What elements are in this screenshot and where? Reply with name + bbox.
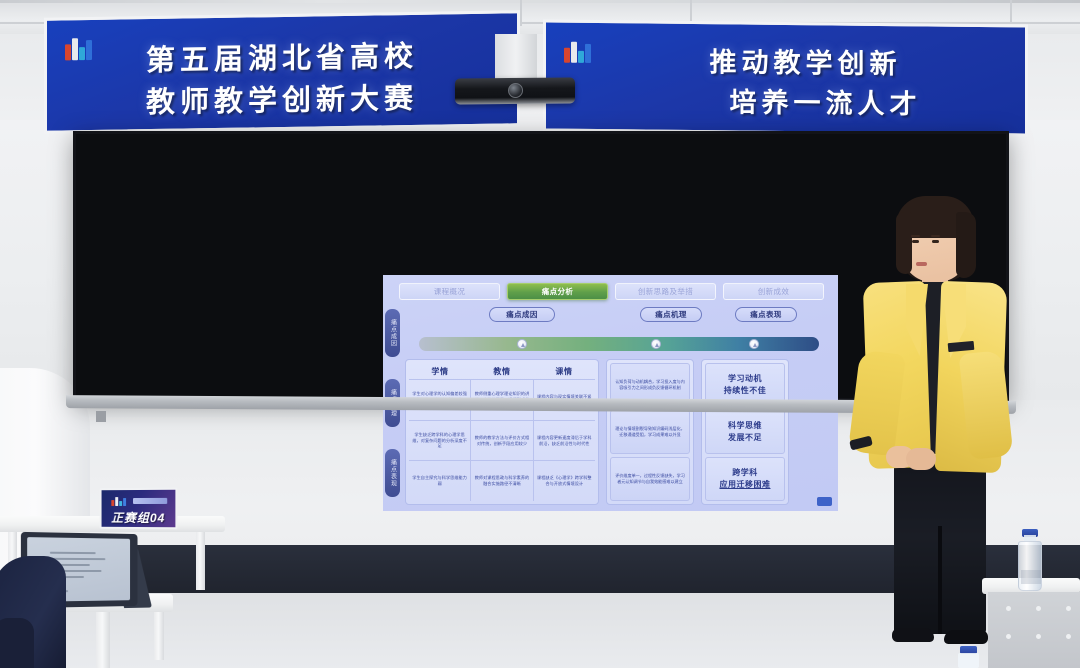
bottle-body: [1018, 541, 1042, 591]
presenter-eye: [912, 240, 919, 243]
pain-cause-table: 学情 教情 课情 学生对心理学的认知偏差较强刻板印象，对本学科学习信心不足 教师…: [405, 359, 599, 505]
ceiling-line: [520, 0, 522, 26]
table-row: 学生缺乏跨学科的心理学思维，对复杂问题的分析深度不足 教师的教学方法与评价方式相…: [409, 420, 595, 461]
water-bottle-secondary: [958, 646, 980, 668]
pill-label: 痛点成因: [506, 309, 538, 320]
pill-label: 痛点表现: [750, 309, 782, 320]
progress-node: [651, 339, 661, 349]
progress-node: [517, 339, 527, 349]
desk-leg: [154, 612, 164, 660]
presenter-eye: [932, 240, 939, 243]
tab-label: 痛点分析: [542, 286, 574, 297]
symptom-line1: 科学思维: [728, 420, 762, 432]
mechanism-box: 评价维度单一，过程性反馈缺失，学习者元认知调节与自我效能感难以建立: [610, 457, 690, 501]
ceiling-line: [1010, 0, 1012, 24]
name-card-subtitle-bar: [133, 498, 167, 504]
banner-right-line1: 推动教学创新: [546, 38, 1025, 82]
tab-label: 创新思路及举措: [638, 286, 693, 297]
symptom-line1: 跨学科: [720, 467, 771, 479]
side-rail-label: 痛点表现: [390, 459, 396, 487]
side-rail-item-symptom[interactable]: 痛点表现: [385, 449, 400, 497]
table-header-row: 学情 教情 课情: [409, 363, 595, 379]
column-header-student: 学情: [409, 363, 471, 379]
water-bottle: [1018, 529, 1042, 591]
side-rail-item-cause[interactable]: 痛点成因: [385, 309, 400, 357]
pill-label: 痛点机理: [655, 309, 687, 320]
column-header-course: 课情: [533, 363, 595, 379]
column-header-teaching: 教情: [471, 363, 533, 379]
table-row: 学生自主探究与科学思维能力弱 教师对课程思政与科学素养的融合实施路径不清晰 课程…: [409, 460, 595, 501]
presenter-hair: [896, 212, 912, 274]
banner-right: 推动教学创新 培养一流人才: [543, 19, 1028, 136]
presenter-hair: [956, 212, 976, 278]
presenter-shoe: [944, 630, 988, 644]
presenter-eyebrow: [911, 235, 920, 237]
name-card-text: 正赛组04: [102, 509, 176, 526]
presenter-mouth: [916, 262, 927, 266]
presenter-hand: [906, 448, 936, 470]
bottle-body: [958, 653, 979, 668]
desk-leg: [96, 612, 110, 668]
mechanism-box: 理论与情境割裂导致知识编码浅层化，迁移通道受阻，学习成果难以外显: [610, 410, 690, 454]
table-cell: 学生自主探究与科学思维能力弱: [409, 461, 471, 501]
ceiling-seam: [0, 0, 1080, 3]
pain-mechanism-column: 认知负荷与动机耦合，学习投入度与内容吸引力之间形成负反馈循环机制 理论与情境割裂…: [606, 359, 694, 505]
slide-section-pills: 痛点成因 痛点机理 痛点表现: [405, 307, 825, 323]
tab-pain-point-analysis[interactable]: 痛点分析: [507, 283, 608, 300]
desk-leg: [196, 532, 205, 590]
symptom-line2: 持续性不佳: [724, 385, 767, 397]
presenter-eyebrow: [931, 235, 940, 237]
tab-label: 课程概况: [434, 286, 466, 297]
pill-pain-cause: 痛点成因: [489, 307, 555, 322]
screen-foot: [96, 411, 106, 422]
name-card: 正赛组04: [100, 488, 178, 530]
tab-innovation-results[interactable]: 创新成效: [723, 283, 824, 300]
tab-course-overview[interactable]: 课程概况: [399, 283, 500, 300]
side-rail-label: 痛点成因: [390, 319, 396, 347]
banner-left-line1: 第五届湖北省高校: [47, 31, 517, 80]
slide-content: 学情 教情 课情 学生对心理学的认知偏差较强刻板印象，对本学科学习信心不足 教师…: [405, 359, 825, 505]
slide-tab-bar: 课程概况 痛点分析 创新思路及举措 创新成效: [399, 283, 824, 300]
presentation-slide: 课程概况 痛点分析 创新思路及举措 创新成效 痛点成因 痛点机理: [383, 275, 838, 511]
equipment-cabinet: [988, 592, 1080, 668]
video-conference-camera: [455, 77, 575, 104]
camera-lens-icon: [508, 83, 523, 98]
tab-innovation-approach[interactable]: 创新思路及举措: [615, 283, 716, 300]
table-cell: 课程缺乏《心理学》跨学科整合与开放式情境设计: [534, 461, 595, 501]
table-cell: 学生缺乏跨学科的心理学思维，对复杂问题的分析深度不足: [409, 421, 471, 461]
progress-node: [749, 339, 759, 349]
slide-corner-badge: [817, 497, 832, 506]
tk-logo-icon: [111, 497, 129, 506]
slide-progress-bar: [419, 337, 819, 351]
pill-pain-mechanism: 痛点机理: [640, 307, 702, 322]
chair-back: [0, 618, 34, 668]
presenter-pants-seam: [938, 526, 942, 634]
banner-left: 第五届湖北省高校 教师教学创新大赛: [44, 10, 520, 133]
symptom-box: 科学思维 发展不足: [705, 410, 785, 454]
symptom-line2: 发展不足: [728, 432, 762, 444]
presenter-shoe: [892, 628, 934, 642]
symptom-line1: 学习动机: [724, 373, 767, 385]
symptom-box: 跨学科 应用迁移困难: [705, 457, 785, 501]
tab-label: 创新成效: [758, 286, 790, 297]
banner-right-line2: 培养一流人才: [546, 78, 1025, 122]
table-cell: 教师的教学方法与评价方式相对传统，创新手段应用较少: [471, 421, 533, 461]
bottle-label: [1021, 570, 1041, 584]
symptom-line2: 应用迁移困难: [720, 479, 771, 491]
table-cell: 教师对课程思政与科学素养的融合实施路径不清晰: [471, 461, 533, 501]
table-cell: 课程内容更新速度滞后于学科前沿，缺乏前沿性与时代性: [534, 421, 595, 461]
classroom-scene: 第五届湖北省高校 教师教学创新大赛 推动教学创新 培养一流人才 课程概况 痛点分…: [0, 0, 1080, 668]
camera-mount: [495, 34, 537, 82]
pain-symptom-column: 学习动机 持续性不佳 科学思维 发展不足 跨学科 应用迁移困难: [701, 359, 789, 505]
ceiling-line: [690, 0, 692, 22]
banner-left-line2: 教师教学创新大赛: [47, 73, 517, 122]
pill-pain-symptom: 痛点表现: [735, 307, 797, 322]
